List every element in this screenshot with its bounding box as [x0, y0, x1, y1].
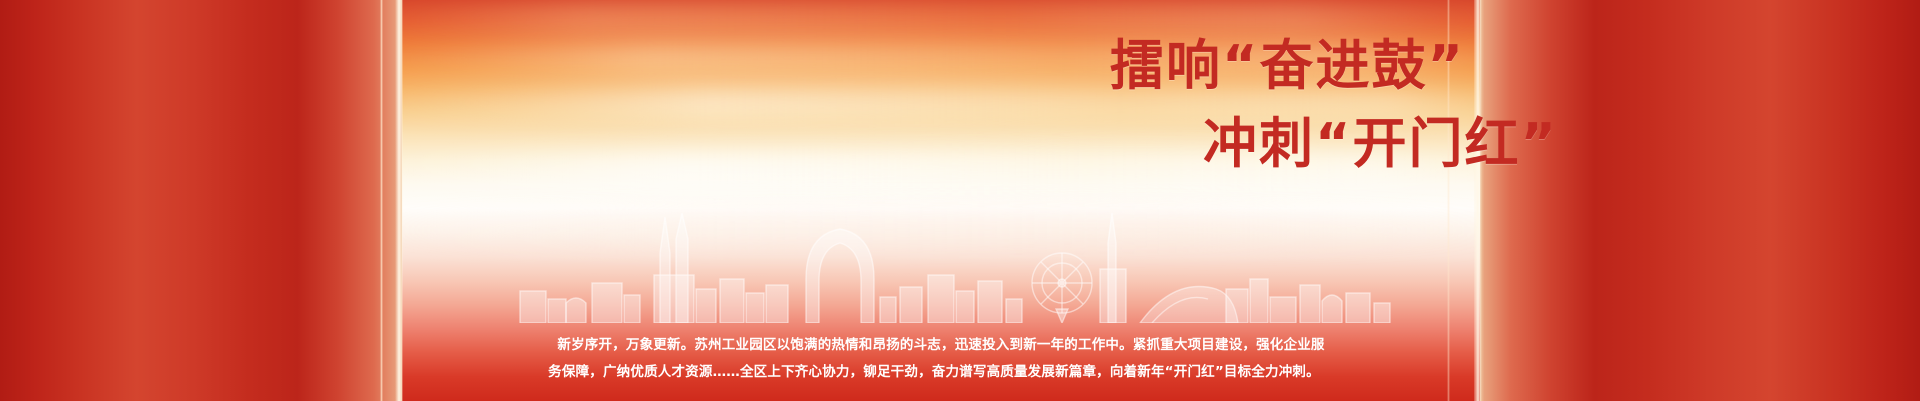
body-copy: 新岁序开，万象更新。苏州工业园区以饱满的热情和昂扬的斗志，迅速投入到新一年的工作…	[402, 332, 1480, 385]
headline-group: 擂响“奋进鼓” 冲刺“开门红”	[0, 36, 1920, 175]
headline-line-2: 冲刺“开门红”	[1203, 114, 1558, 174]
new-year-campaign-banner: 擂响“奋进鼓” 冲刺“开门红” 新岁序开，万象更新。苏州工业园区以饱满的热情和昂…	[0, 0, 1920, 401]
body-copy-line-2: 务保障，广纳优质人才资源……全区上下齐心协力，铆足干劲，奋力谱写高质量发展新篇章…	[388, 359, 1480, 385]
body-copy-line-1: 新岁序开，万象更新。苏州工业园区以饱满的热情和昂扬的斗志，迅速投入到新一年的工作…	[402, 332, 1480, 358]
headline-line-1: 擂响“奋进鼓”	[1110, 36, 1465, 96]
cloud-streak	[402, 214, 1480, 246]
cloud-streak	[402, 6, 1480, 32]
